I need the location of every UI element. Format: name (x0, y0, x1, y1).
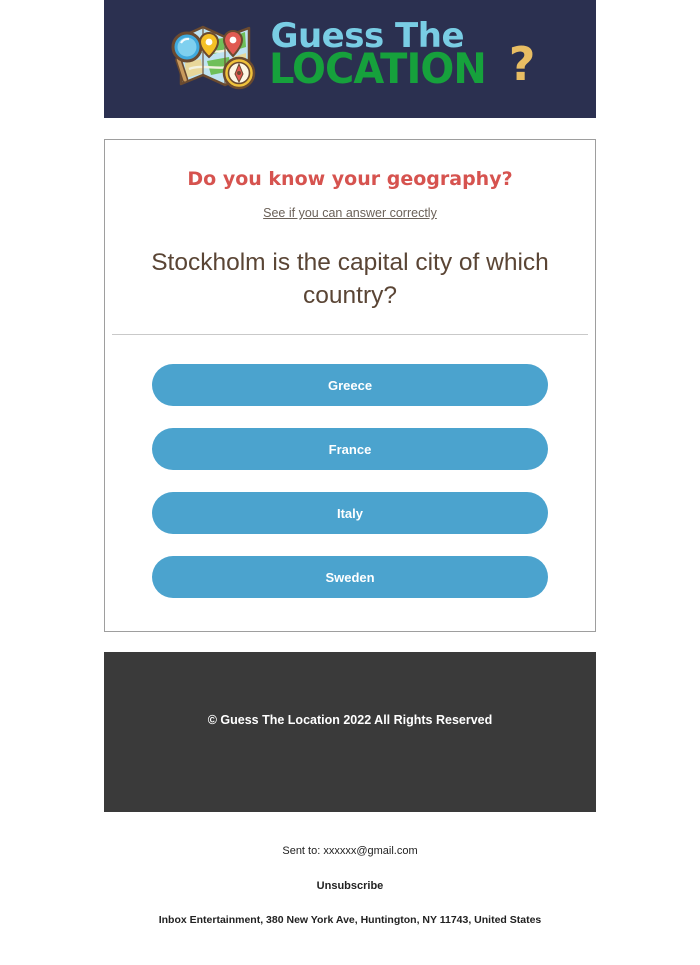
quiz-heading: Do you know your geography? (105, 168, 595, 190)
quiz-subtitle-link[interactable]: See if you can answer correctly (105, 206, 595, 220)
answer-options: Greece France Italy Sweden (105, 364, 595, 598)
mailing-address: Inbox Entertainment, 380 New York Ave, H… (104, 914, 596, 926)
email-header: Guess The LOCATION ? (104, 0, 596, 118)
logo-question-mark: ? (505, 37, 536, 93)
legal-block: Sent to: xxxxxx@gmail.com Unsubscribe In… (104, 845, 596, 926)
card-divider (112, 334, 588, 335)
logo-wordmark: Guess The LOCATION (269, 22, 497, 89)
logo-line-location: LOCATION (269, 51, 486, 88)
brand-logo: Guess The LOCATION ? (165, 17, 536, 93)
copyright-text: © Guess The Location 2022 All Rights Res… (104, 713, 596, 727)
quiz-card: Do you know your geography? See if you c… (104, 139, 596, 632)
answer-option-1[interactable]: Greece (152, 364, 548, 406)
map-compass-icon (165, 17, 261, 93)
footer-band: © Guess The Location 2022 All Rights Res… (104, 652, 596, 812)
answer-option-4[interactable]: Sweden (152, 556, 548, 598)
answer-option-3[interactable]: Italy (152, 492, 548, 534)
unsubscribe-link[interactable]: Unsubscribe (104, 880, 596, 892)
answer-option-2[interactable]: France (152, 428, 548, 470)
email-page: Guess The LOCATION ? Do you know your ge… (0, 0, 700, 965)
sent-to-text: Sent to: xxxxxx@gmail.com (104, 845, 596, 857)
quiz-question: Stockholm is the capital city of which c… (143, 247, 557, 312)
